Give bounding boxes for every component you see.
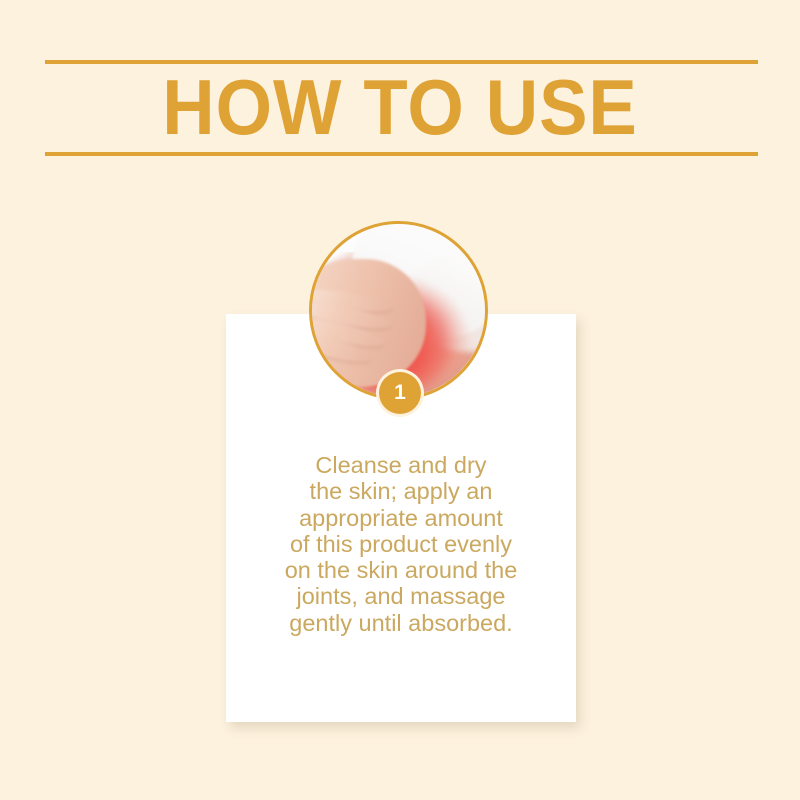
page-title: HOW TO USE <box>28 62 772 152</box>
instruction-line: the skin; apply an <box>226 478 576 504</box>
instruction-line: Cleanse and dry <box>226 452 576 478</box>
step-number-badge: 1 <box>379 372 421 414</box>
instruction-line: of this product evenly <box>226 531 576 557</box>
instruction-line: appropriate amount <box>226 505 576 531</box>
instruction-line: gently until absorbed. <box>226 610 576 636</box>
title-rule-bottom <box>45 152 758 156</box>
instruction-line: on the skin around the <box>226 557 576 583</box>
header-banner: HOW TO USE <box>0 0 800 200</box>
instruction-text: Cleanse and dry the skin; apply an appro… <box>226 452 576 636</box>
instruction-line: joints, and massage <box>226 583 576 609</box>
